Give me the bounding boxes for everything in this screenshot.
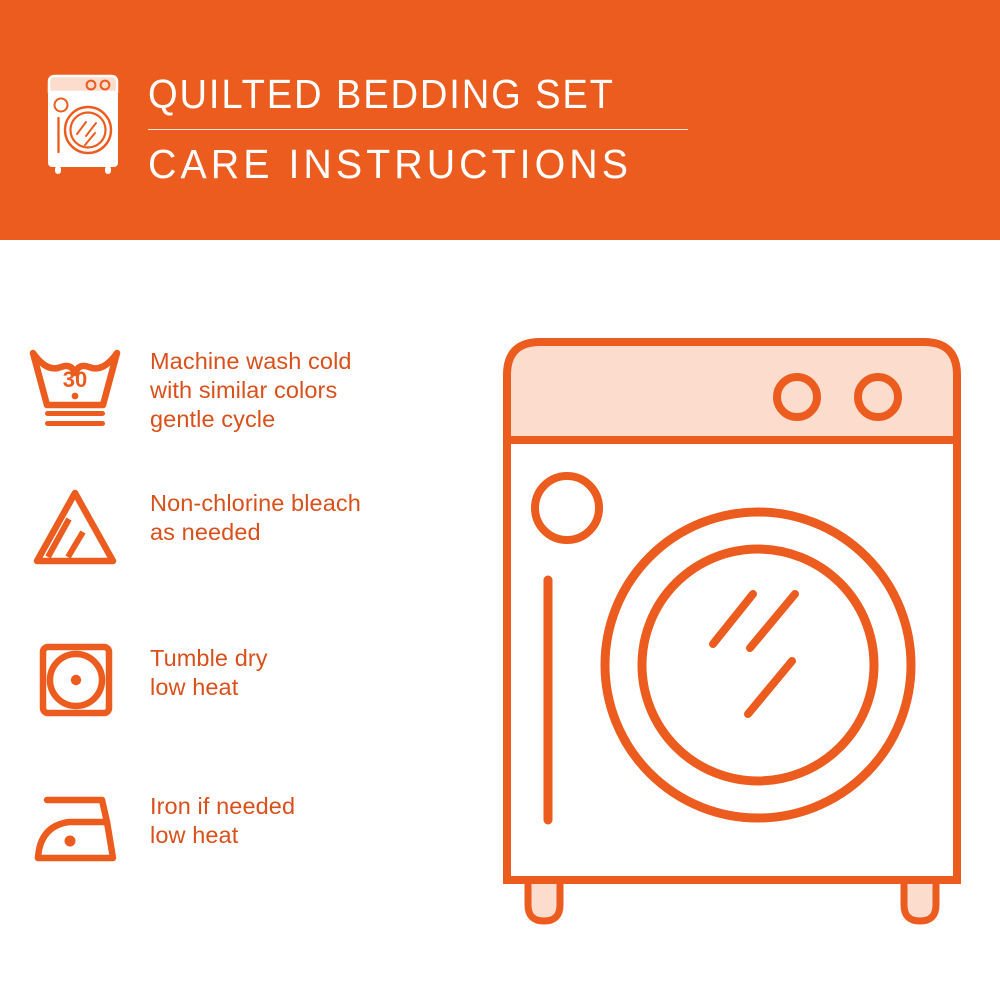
header-banner: QUILTED BEDDING SET CARE INSTRUCTIONS xyxy=(0,0,1000,240)
title-divider xyxy=(148,129,688,130)
care-row-bleach: Non-chlorine bleach as needed xyxy=(0,485,470,571)
care-text-wash: Machine wash cold with similar colors ge… xyxy=(150,343,352,434)
knob-left xyxy=(777,377,817,417)
bleach-triangle-icon xyxy=(0,485,150,571)
detergent-dispenser xyxy=(535,476,599,540)
washing-machine-icon xyxy=(44,72,122,176)
page-title: QUILTED BEDDING SET xyxy=(148,70,669,118)
door-window xyxy=(642,549,874,781)
front-load-washing-machine-illustration xyxy=(495,330,975,940)
tumble-dry-icon xyxy=(0,640,150,726)
care-instruction-list: 30 Machine wash cold with similar colors… xyxy=(0,240,470,1000)
care-row-iron: Iron if needed low heat xyxy=(0,788,470,874)
wash-tub-icon: 30 xyxy=(0,343,150,429)
care-row-wash: 30 Machine wash cold with similar colors… xyxy=(0,343,470,434)
wash-temperature-label: 30 xyxy=(63,367,87,392)
header-title-block: QUILTED BEDDING SET CARE INSTRUCTIONS xyxy=(148,70,708,189)
care-row-dry: Tumble dry low heat xyxy=(0,640,470,726)
knob-right xyxy=(858,377,898,417)
care-text-bleach: Non-chlorine bleach as needed xyxy=(150,485,361,547)
care-text-iron: Iron if needed low heat xyxy=(150,788,295,850)
page-subtitle: CARE INSTRUCTIONS xyxy=(148,139,686,189)
care-text-dry: Tumble dry low heat xyxy=(150,640,268,702)
iron-icon xyxy=(0,788,150,874)
